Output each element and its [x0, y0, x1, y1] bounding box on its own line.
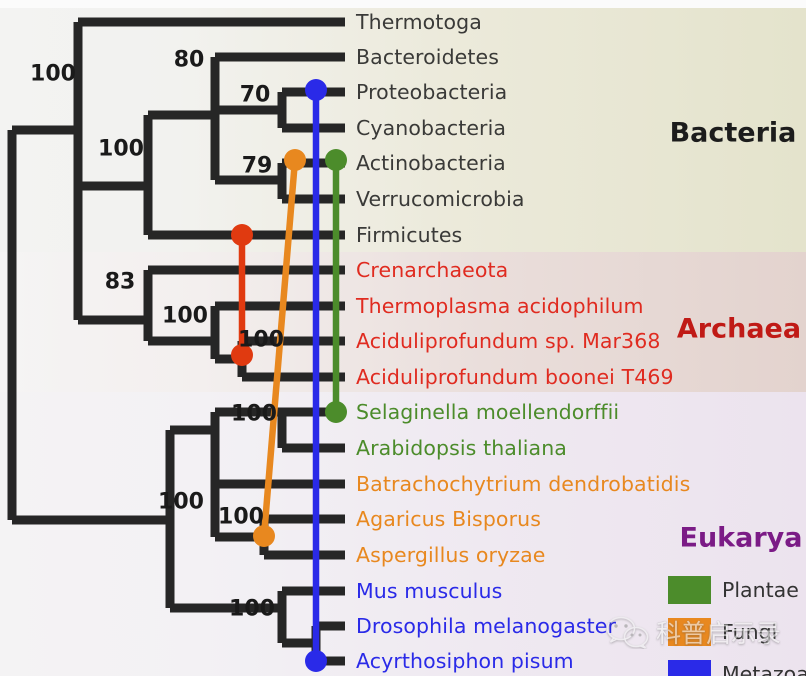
legend-label: Metazoa	[722, 662, 806, 676]
taxon-label: Acyrthosiphon pisum	[356, 651, 574, 672]
taxon-label: Aciduliprofundum sp. Mar368	[356, 331, 660, 352]
bootstrap-value: 100	[238, 328, 284, 353]
bootstrap-value: 100	[98, 137, 144, 162]
legend-label: Plantae	[722, 578, 799, 602]
bootstrap-value: 100	[231, 402, 277, 427]
tree-branches	[12, 22, 345, 661]
taxon-label: Thermotoga	[356, 12, 482, 33]
taxon-label: Arabidopsis thaliana	[356, 438, 567, 459]
taxon-label: Selaginella moellendorffii	[356, 402, 619, 423]
hgt-node-blue-end	[305, 650, 327, 672]
taxon-label: Aciduliprofundum boonei T469	[356, 367, 674, 388]
bootstrap-value: 100	[229, 597, 275, 622]
domain-label-archaea: Archaea	[677, 314, 801, 345]
bootstrap-value: 70	[240, 83, 271, 108]
legend-label: Fungi	[722, 620, 777, 644]
taxon-label: Bacteroidetes	[356, 47, 499, 68]
hgt-node-green-end	[325, 401, 347, 423]
bootstrap-value: 100	[162, 304, 208, 329]
taxon-label: Batrachochytrium dendrobatidis	[356, 474, 690, 495]
taxon-label: Verrucomicrobia	[356, 189, 525, 210]
legend-swatch	[668, 660, 711, 676]
hgt-node-red-start	[231, 224, 253, 246]
bootstrap-value: 100	[218, 505, 264, 530]
legend-item: Fungi	[668, 618, 777, 646]
bootstrap-value: 100	[30, 62, 76, 87]
taxon-label: Cyanobacteria	[356, 118, 506, 139]
hgt-node-green-start	[325, 149, 347, 171]
taxon-label: Drosophila melanogaster	[356, 616, 616, 637]
taxon-label: Firmicutes	[356, 225, 462, 246]
bootstrap-value: 100	[158, 490, 204, 515]
legend-swatch	[668, 618, 711, 646]
hgt-node-blue-start	[305, 79, 327, 101]
legend-item: Metazoa	[668, 660, 806, 676]
phylogenetic-tree-figure: ThermotogaBacteroidetesProteobacteriaCya…	[0, 0, 806, 676]
legend-swatch	[668, 576, 711, 604]
taxon-label: Crenarchaeota	[356, 260, 508, 281]
taxon-label: Mus musculus	[356, 581, 502, 602]
hgt-line-green	[325, 149, 347, 423]
legend-item: Plantae	[668, 576, 799, 604]
taxon-label: Thermoplasma acidophilum	[356, 296, 644, 317]
bootstrap-value: 79	[242, 154, 273, 179]
taxon-label: Aspergillus oryzae	[356, 545, 546, 566]
taxon-label: Actinobacteria	[356, 153, 506, 174]
bootstrap-value: 83	[105, 270, 136, 295]
taxon-label: Agaricus Bisporus	[356, 509, 541, 530]
domain-label-eukarya: Eukarya	[680, 523, 803, 554]
taxon-label: Proteobacteria	[356, 82, 507, 103]
hgt-node-orange-start	[284, 149, 306, 171]
domain-label-bacteria: Bacteria	[670, 118, 797, 149]
bootstrap-value: 80	[174, 48, 205, 73]
